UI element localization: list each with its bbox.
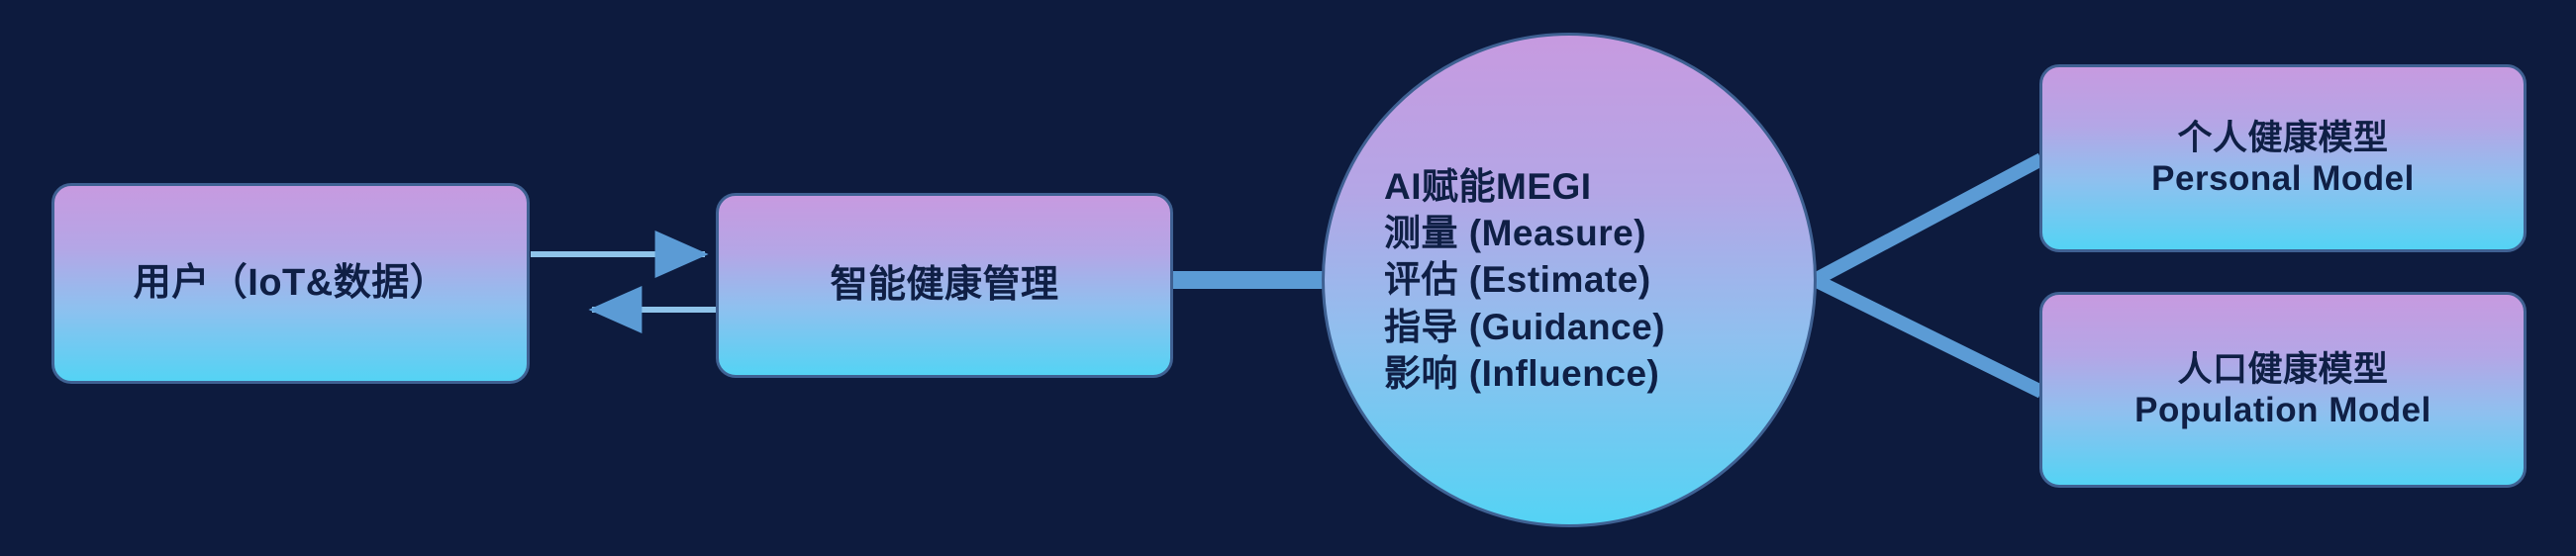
node-personal-model-label: 个人健康模型 Personal Model	[2151, 118, 2415, 200]
node-smart-health-management[interactable]: 智能健康管理	[716, 193, 1173, 378]
node-ai-megi-label: AI赋能MEGI 测量 (Measure) 评估 (Estimate) 指导 (…	[1384, 163, 1665, 398]
node-personal-model[interactable]: 个人健康模型 Personal Model	[2039, 64, 2526, 252]
node-user-label: 用户（IoT&数据）	[134, 261, 447, 306]
node-population-model[interactable]: 人口健康模型 Population Model	[2039, 292, 2526, 488]
edge-megi-to-population-model	[1815, 280, 2041, 392]
node-smart-health-management-label: 智能健康管理	[830, 263, 1058, 308]
node-population-model-label: 人口健康模型 Population Model	[2134, 349, 2431, 431]
node-user[interactable]: 用户（IoT&数据）	[51, 183, 530, 384]
diagram-canvas: 用户（IoT&数据） 智能健康管理 AI赋能MEGI 测量 (Measure) …	[0, 0, 2576, 556]
edge-megi-to-personal-model	[1815, 159, 2041, 280]
node-ai-megi[interactable]: AI赋能MEGI 测量 (Measure) 评估 (Estimate) 指导 (…	[1322, 33, 1817, 527]
